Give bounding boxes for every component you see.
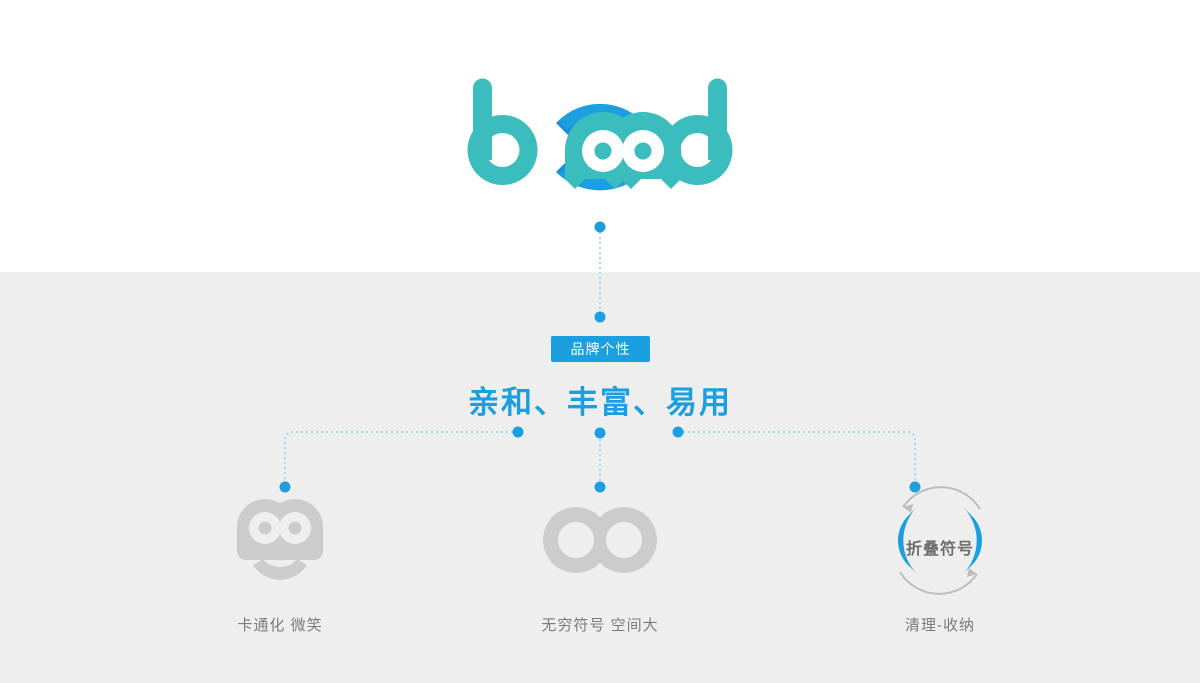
boad-logo	[455, 75, 745, 220]
page-title: 亲和、丰富、易用	[0, 377, 1200, 422]
logo-letter-b	[468, 79, 538, 185]
rotate-arrow-bottom	[900, 572, 977, 594]
trait-label-cartoon: 卡通化 微笑	[150, 614, 410, 635]
trait-item-folding: 清理-收纳	[810, 490, 1070, 635]
trait-item-cartoon: 卡通化 微笑	[150, 490, 410, 635]
trait-label-infinity: 无穷符号 空间大	[470, 614, 730, 635]
poster-canvas: 品牌个性 亲和、丰富、易用 卡通化 微笑	[0, 0, 1200, 683]
trait-label-folding: 清理-收纳	[810, 614, 1070, 635]
folding-icon-inner-text: 折叠符号	[810, 535, 1070, 559]
trait-item-infinity: 无穷符号 空间大	[470, 490, 730, 635]
brand-personality-badge: 品牌个性	[551, 336, 650, 362]
cartoon-face-icon	[150, 490, 410, 590]
rotate-arrow-top	[903, 487, 980, 509]
infinity-symbol-icon	[470, 490, 730, 590]
